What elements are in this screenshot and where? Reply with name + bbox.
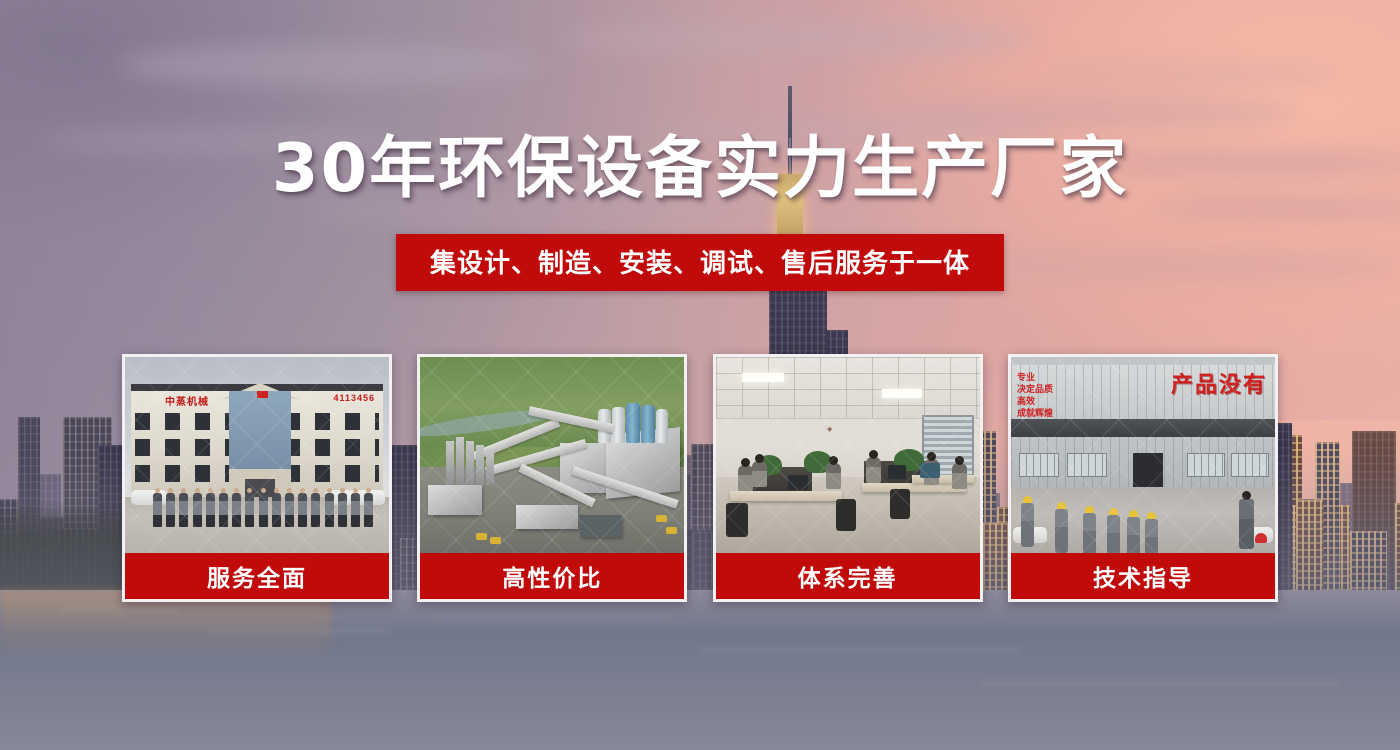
card-photo-factory-workers: 产品没有 专业决定品质高效成就辉煌 xyxy=(1011,357,1275,553)
supervisor xyxy=(1239,499,1254,549)
card-label: 技术指导 xyxy=(1011,553,1275,599)
person xyxy=(298,493,307,527)
card-label: 服务全面 xyxy=(125,553,389,599)
card-label: 高性价比 xyxy=(420,553,684,599)
person xyxy=(153,493,162,527)
person xyxy=(325,493,334,527)
worker xyxy=(1083,513,1096,553)
worker xyxy=(1021,503,1034,547)
person xyxy=(193,493,202,527)
worker xyxy=(1145,519,1158,553)
person xyxy=(272,493,281,527)
person xyxy=(338,493,347,527)
cloud xyxy=(560,22,1040,56)
worker xyxy=(1127,517,1140,553)
building-sign-text: 中蒸机械 xyxy=(165,393,209,408)
feature-card-row: 中蒸机械 4113456 服务全面 xyxy=(122,354,1278,602)
page-title: 30年环保设备实力生产厂家 xyxy=(0,130,1400,206)
person xyxy=(232,493,241,527)
cloud xyxy=(1040,60,1340,88)
person xyxy=(166,493,175,527)
person xyxy=(285,493,294,527)
worker xyxy=(1107,515,1120,553)
worker xyxy=(1055,509,1068,553)
person xyxy=(351,493,360,527)
person xyxy=(311,493,320,527)
red-helmet xyxy=(1255,533,1267,543)
cloud xyxy=(120,44,540,86)
promo-banner: 30年环保设备实力生产厂家 集设计、制造、安装、调试、售后服务于一体 中蒸机械 … xyxy=(0,0,1400,750)
person xyxy=(206,493,215,527)
subtitle-banner: 集设计、制造、安装、调试、售后服务于一体 xyxy=(396,234,1004,291)
person xyxy=(259,493,268,527)
building-phone-text: 4113456 xyxy=(333,393,375,403)
subtitle-banner-wrap: 集设计、制造、安装、调试、售后服务于一体 xyxy=(0,234,1400,291)
factory-sign-text: 产品没有 xyxy=(1171,367,1267,399)
card-photo-office-building: 中蒸机械 4113456 xyxy=(125,357,389,553)
factory-sign-small-text: 专业决定品质高效成就辉煌 xyxy=(1017,371,1053,419)
feature-card[interactable]: 高性价比 xyxy=(417,354,687,602)
card-photo-industrial-plant xyxy=(420,357,684,553)
feature-card[interactable]: 中蒸机械 4113456 服务全面 xyxy=(122,354,392,602)
person xyxy=(364,493,373,527)
card-label: 体系完善 xyxy=(716,553,980,599)
person xyxy=(219,493,228,527)
feature-card[interactable]: ◈ xyxy=(713,354,983,602)
person xyxy=(245,493,254,527)
river-water xyxy=(0,590,1400,750)
feature-card[interactable]: 产品没有 专业决定品质高效成就辉煌 技术指导 xyxy=(1008,354,1278,602)
person xyxy=(179,493,188,527)
card-photo-office-interior: ◈ xyxy=(716,357,980,553)
